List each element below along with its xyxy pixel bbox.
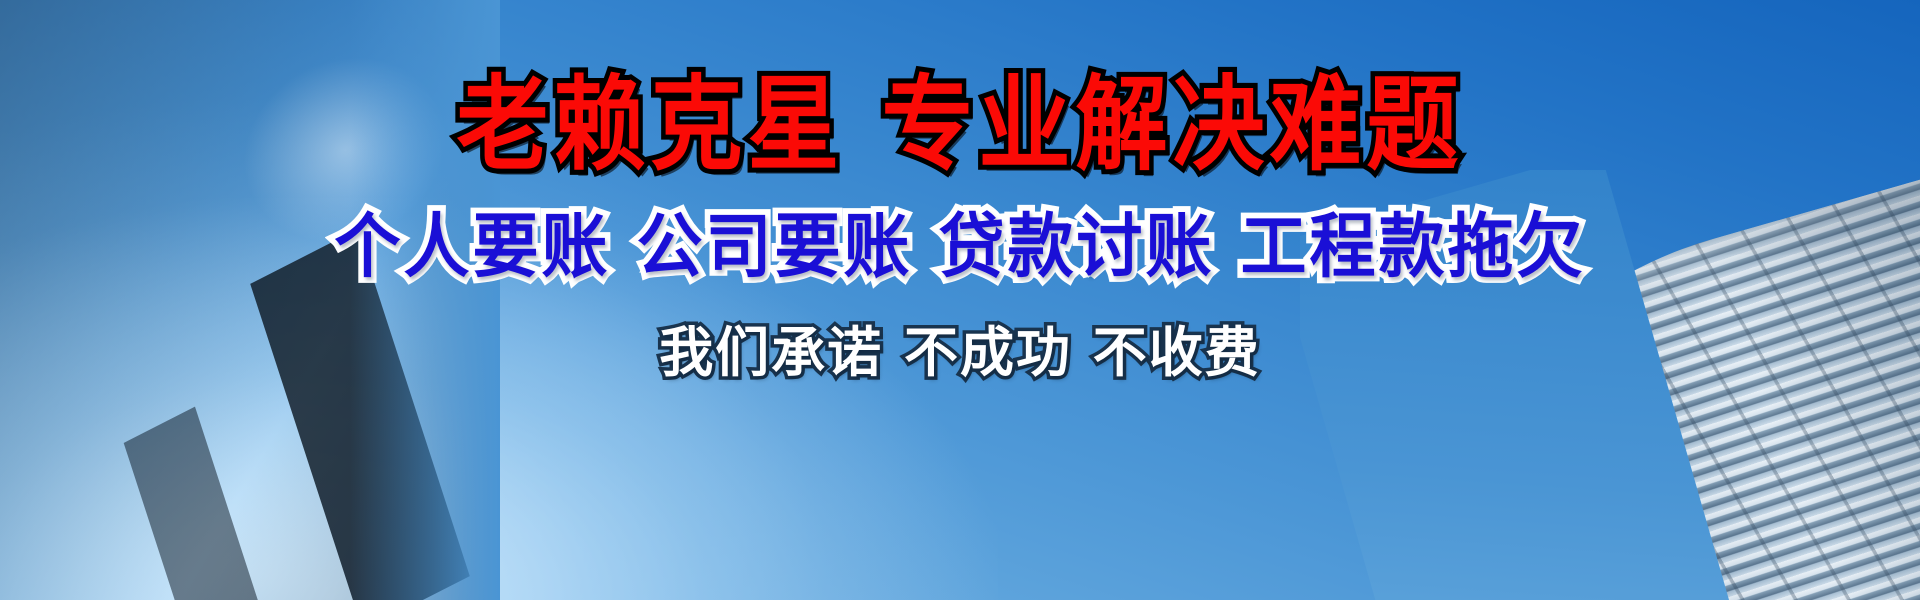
banner-headline: 老赖克星 专业解决难题 — [456, 74, 1463, 177]
banner-promise-line: 我们承诺 不成功 不收费 — [659, 326, 1261, 380]
banner-services-line: 个人要账 公司要账 贷款讨账 工程款拖欠 — [335, 212, 1586, 282]
banner-text-content: 老赖克星 专业解决难题 个人要账 公司要账 贷款讨账 工程款拖欠 我们承诺 不成… — [0, 0, 1920, 600]
promotional-banner: 老赖克星 专业解决难题 个人要账 公司要账 贷款讨账 工程款拖欠 我们承诺 不成… — [0, 0, 1920, 600]
